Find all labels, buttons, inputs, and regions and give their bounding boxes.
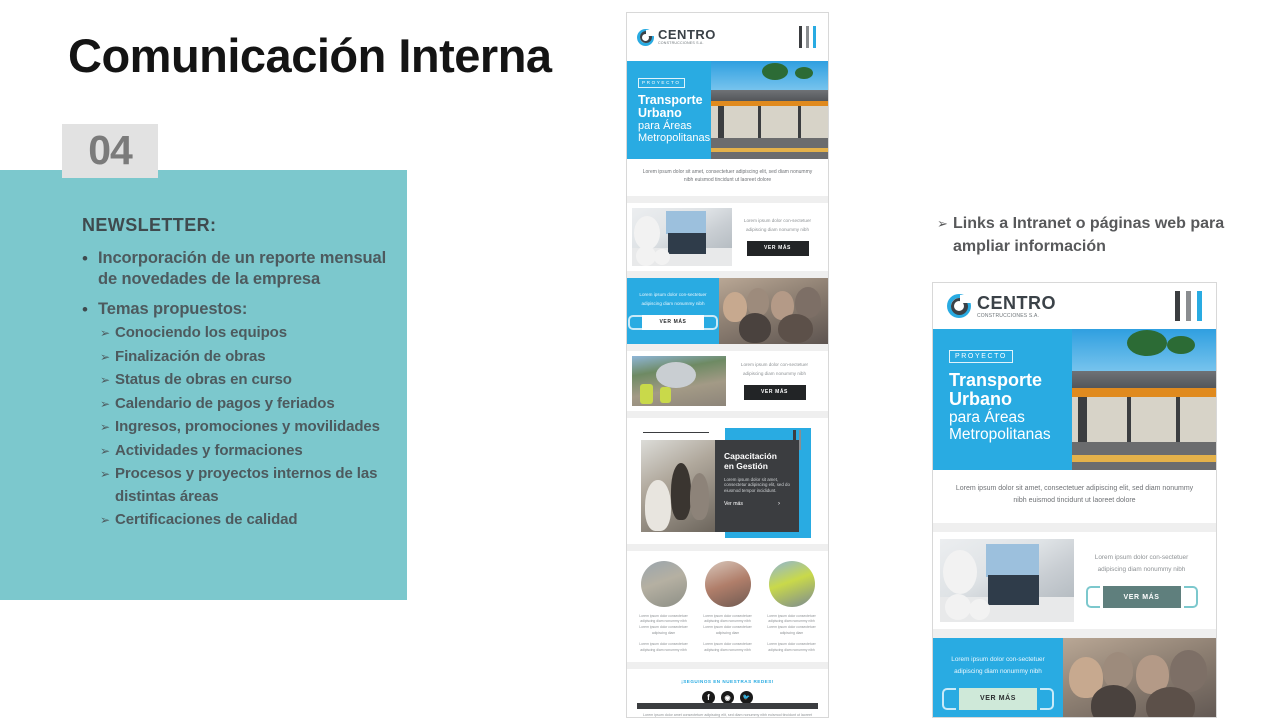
section-spacer — [627, 271, 828, 278]
feature-block: Capacitación en Gestión Lorem ipsum dolo… — [627, 418, 828, 544]
centro-logo-icon — [947, 294, 971, 318]
hero-title-line2: Urbano — [638, 107, 711, 120]
button-bracket: VER MÁS — [1086, 586, 1198, 608]
section-spacer — [933, 629, 1216, 638]
list-item: ➢ Procesos y proyectos internos de las d… — [100, 463, 402, 508]
gallery-photo — [641, 561, 687, 607]
arrow-bullet-icon: ➢ — [100, 509, 115, 532]
gallery-caption: Lorem ipsum dolor consectetuer adipiscin… — [763, 614, 820, 638]
content-card: Lorem ipsum dolor con-sectetuer adipisci… — [933, 638, 1216, 718]
section-spacer — [627, 196, 828, 203]
gallery-caption: Lorem ipsum dolor consectetuer adipiscin… — [699, 614, 756, 638]
ver-mas-button[interactable]: VER MÁS — [642, 315, 704, 330]
newsletter-footer: ¡SEGUINOS EN NUESTRAS REDES! f ◉ 🐦 Lorem… — [627, 669, 828, 718]
arrow-bullet-icon: ➢ — [100, 346, 115, 369]
bullet-icon: • — [82, 248, 98, 290]
brand-bars-icon — [799, 26, 816, 48]
hero-title-line4: Metropolitanas — [638, 133, 711, 145]
card-text: Lorem ipsum dolor con-sectetuer adipisci… — [742, 217, 814, 234]
hero-banner: PROYECTO Transporte Urbano para Áreas Me… — [933, 329, 1216, 470]
card-photo — [940, 539, 1074, 622]
feature-card: Capacitación en Gestión Lorem ipsum dolo… — [641, 440, 799, 532]
hero-tag: PROYECTO — [638, 78, 685, 88]
gallery-caption-secondary: Lorem ipsum dolor consectetuer adipiscin… — [699, 642, 756, 654]
list-item-label: Status de obras en curso — [115, 369, 292, 392]
hero-tag: PROYECTO — [949, 350, 1013, 363]
list-item: ➢ Actividades y formaciones — [100, 440, 402, 463]
card-body: Lorem ipsum dolor con-sectetuer adipisci… — [732, 208, 823, 266]
brand-subtitle: CONSTRUCCIONES S.A. — [977, 314, 1056, 319]
gallery-item: Lorem ipsum dolor consectetuer adipiscin… — [635, 561, 692, 655]
list-item-label: Certificaciones de calidad — [115, 509, 297, 532]
list-item: • Temas propuestos: — [82, 299, 402, 320]
feature-text: Lorem ipsum dolor sit amet, consectetur … — [724, 477, 790, 495]
gallery-caption-secondary: Lorem ipsum dolor consectetuer adipiscin… — [763, 642, 820, 654]
hero-title-line1: Transporte — [949, 371, 1072, 390]
hero-caption: Lorem ipsum dolor sit amet, consectetuer… — [641, 168, 814, 185]
intranet-links-note: ➢ Links a Intranet o páginas web para am… — [937, 212, 1237, 258]
arrow-bullet-icon: ➢ — [937, 212, 953, 258]
gallery-photo — [769, 561, 815, 607]
content-card: Lorem ipsum dolor con-sectetuer adipisci… — [627, 203, 828, 271]
content-card: Lorem ipsum dolor con-sectetuer adipisci… — [627, 351, 828, 411]
brand-name: CENTRO — [977, 294, 1056, 312]
list-item-label: Finalización de obras — [115, 346, 265, 369]
hero-banner: PROYECTO Transporte Urbano para Áreas Me… — [627, 61, 828, 159]
gallery-photo — [705, 561, 751, 607]
content-card: Lorem ipsum dolor con-sectetuer adipisci… — [933, 532, 1216, 629]
list-item: ➢ Ingresos, promociones y movilidades — [100, 416, 402, 439]
section-spacer — [627, 344, 828, 351]
bullet-icon: • — [82, 299, 98, 320]
gallery-caption-secondary: Lorem ipsum dolor consectetuer adipiscin… — [635, 642, 692, 654]
list-item: ➢ Finalización de obras — [100, 346, 402, 369]
sub-list: ➢ Conociendo los equipos ➢ Finalización … — [100, 322, 402, 532]
card-photo — [632, 356, 726, 406]
arrow-bullet-icon: ➢ — [100, 369, 115, 392]
feature-link[interactable]: Ver más › — [724, 501, 780, 507]
newsletter-content: NEWSLETTER: • Incorporación de un report… — [82, 215, 402, 533]
footer-bar — [637, 703, 818, 709]
footer-text: Lorem ipsum dolor amet consectetuer adip… — [639, 712, 816, 718]
card-text: Lorem ipsum dolor con-sectetuer adipisci… — [638, 291, 708, 308]
brand-bars-icon — [1175, 291, 1202, 321]
list-item-label: Actividades y formaciones — [115, 440, 303, 463]
hero-caption: Lorem ipsum dolor sit amet, consectetuer… — [953, 483, 1196, 507]
list-item-label: Calendario de pagos y feriados — [115, 393, 335, 416]
gallery-item: Lorem ipsum dolor consectetuer adipiscin… — [699, 561, 756, 655]
list-item: ➢ Calendario de pagos y feriados — [100, 393, 402, 416]
content-card: Lorem ipsum dolor con-sectetuer adipisci… — [627, 278, 828, 344]
centro-logo-icon — [637, 29, 654, 46]
ver-mas-button[interactable]: VER MÁS — [744, 385, 806, 400]
list-item-label: Temas propuestos: — [98, 299, 247, 320]
brand-logo: CENTRO CONSTRUCCIONES S.A. — [947, 294, 1056, 319]
hero-title-line3: para Áreas — [949, 410, 1072, 427]
hero-text-panel: PROYECTO Transporte Urbano para Áreas Me… — [933, 329, 1072, 470]
hero-title-line2: Urbano — [949, 390, 1072, 409]
section-spacer — [627, 544, 828, 551]
newsletter-header: CENTRO CONSTRUCCIONES S.A. — [933, 283, 1216, 329]
hero-caption-block: Lorem ipsum dolor sit amet, consectetuer… — [933, 470, 1216, 523]
footer-heading: ¡SEGUINOS EN NUESTRAS REDES! — [639, 679, 816, 684]
card-body: Lorem ipsum dolor con-sectetuer adipisci… — [1074, 539, 1209, 622]
list-item: ➢ Certificaciones de calidad — [100, 509, 402, 532]
section-spacer — [627, 411, 828, 418]
hero-photo — [1072, 329, 1216, 470]
newsletter-mockup-full: CENTRO CONSTRUCCIONES S.A. PROYECTO Tran… — [626, 12, 829, 718]
hero-text-panel: PROYECTO Transporte Urbano para Áreas Me… — [627, 61, 711, 159]
step-number-badge: 04 — [62, 124, 158, 178]
feature-photo — [641, 440, 715, 532]
arrow-bullet-icon: ➢ — [100, 393, 115, 416]
feature-title-line2: en Gestión — [724, 461, 790, 471]
section-spacer — [627, 662, 828, 669]
newsletter-header: CENTRO CONSTRUCCIONES S.A. — [627, 13, 828, 61]
photo-gallery: Lorem ipsum dolor consectetuer adipiscin… — [627, 551, 828, 663]
button-bracket: VER MÁS — [628, 315, 718, 330]
chevron-right-icon: › — [778, 501, 780, 507]
list-item-label: Ingresos, promociones y movilidades — [115, 416, 380, 439]
card-photo — [632, 208, 732, 266]
gallery-item: Lorem ipsum dolor consectetuer adipiscin… — [763, 561, 820, 655]
ver-mas-button[interactable]: VER MÁS — [747, 241, 809, 256]
list-item: ➢ Conociendo los equipos — [100, 322, 402, 345]
card-text: Lorem ipsum dolor con-sectetuer adipisci… — [950, 654, 1046, 678]
button-bracket: VER MÁS — [942, 688, 1054, 710]
feature-body: Capacitación en Gestión Lorem ipsum dolo… — [715, 440, 799, 532]
newsletter-heading: NEWSLETTER: — [82, 215, 402, 236]
divider — [643, 432, 709, 433]
card-text: Lorem ipsum dolor con-sectetuer adipisci… — [739, 361, 811, 378]
card-photo — [719, 278, 828, 344]
arrow-bullet-icon: ➢ — [100, 322, 115, 345]
arrow-bullet-icon: ➢ — [100, 463, 115, 508]
gallery-caption: Lorem ipsum dolor consectetuer adipiscin… — [635, 614, 692, 638]
feature-title-line1: Capacitación — [724, 451, 790, 461]
card-photo — [1063, 638, 1216, 718]
newsletter-mockup-detail: CENTRO CONSTRUCCIONES S.A. PROYECTO Tran… — [932, 282, 1217, 718]
list-item: ➢ Status de obras en curso — [100, 369, 402, 392]
ver-mas-button[interactable]: VER MÁS — [1103, 586, 1181, 608]
card-body: Lorem ipsum dolor con-sectetuer adipisci… — [726, 356, 823, 406]
feature-link-label: Ver más — [724, 501, 743, 507]
brand-name: CENTRO — [658, 28, 716, 41]
hero-photo — [711, 61, 828, 159]
brand-subtitle: CONSTRUCCIONES S.A. — [658, 42, 716, 46]
card-text: Lorem ipsum dolor con-sectetuer adipisci… — [1094, 552, 1190, 576]
list-item-label: Conociendo los equipos — [115, 322, 287, 345]
hero-caption-block: Lorem ipsum dolor sit amet, consectetuer… — [627, 159, 828, 196]
card-body: Lorem ipsum dolor con-sectetuer adipisci… — [627, 278, 719, 344]
list-item: • Incorporación de un reporte mensual de… — [82, 248, 402, 290]
section-spacer — [933, 523, 1216, 532]
ver-mas-button[interactable]: VER MÁS — [959, 688, 1037, 710]
arrow-bullet-icon: ➢ — [100, 416, 115, 439]
list-item-label: Procesos y proyectos internos de las dis… — [115, 463, 402, 508]
brand-logo: CENTRO CONSTRUCCIONES S.A. — [637, 28, 716, 46]
intranet-links-label: Links a Intranet o páginas web para ampl… — [953, 212, 1237, 258]
hero-title-line4: Metropolitanas — [949, 427, 1072, 444]
page-title: Comunicación Interna — [68, 28, 552, 83]
card-body: Lorem ipsum dolor con-sectetuer adipisci… — [933, 638, 1063, 718]
arrow-bullet-icon: ➢ — [100, 440, 115, 463]
list-item-label: Incorporación de un reporte mensual de n… — [98, 248, 402, 290]
